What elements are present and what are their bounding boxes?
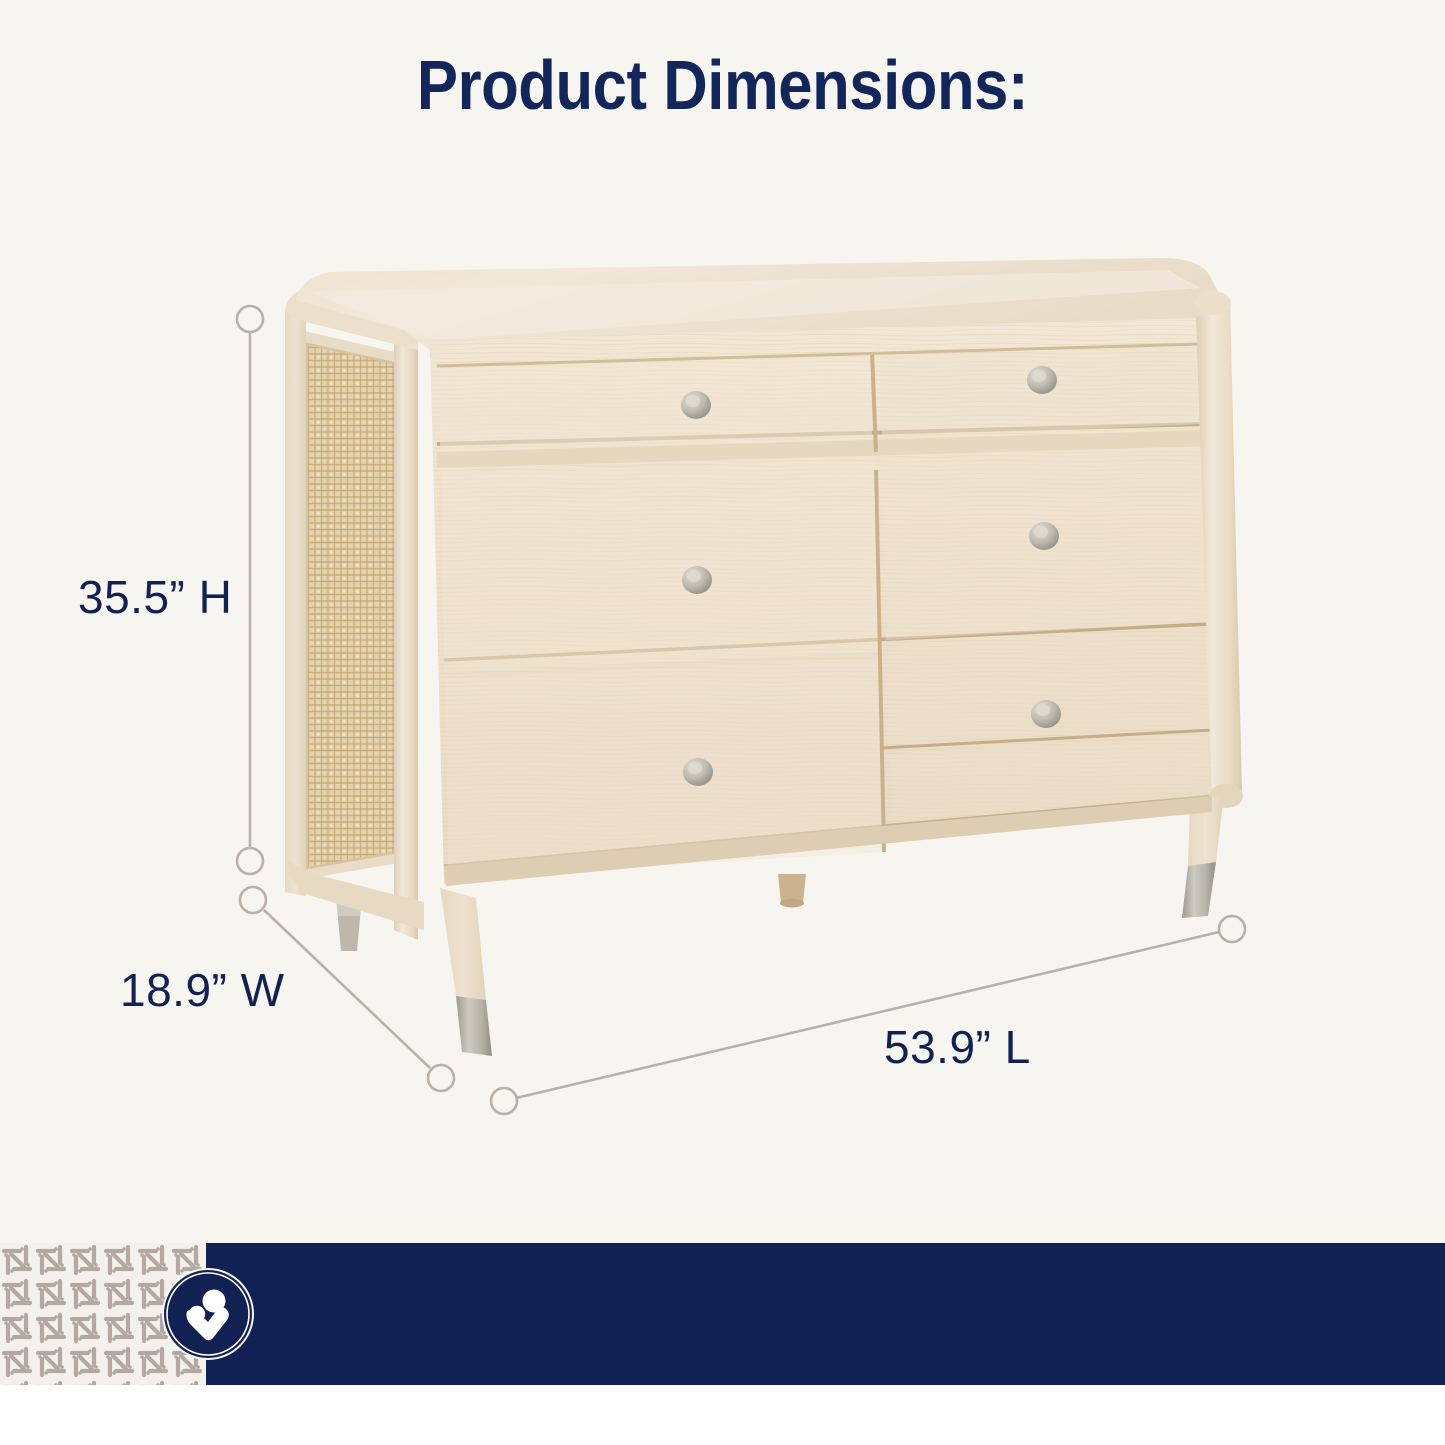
- footer-white-strip: [0, 1385, 1445, 1445]
- width-dimension-label: 18.9” W: [120, 963, 285, 1017]
- infographic-canvas: Product Dimensions:: [0, 0, 1445, 1243]
- leg-cap-left: [456, 996, 492, 1056]
- knob-top-left[interactable]: [681, 391, 711, 419]
- knob-bottom-left[interactable]: [683, 758, 713, 786]
- drawer-faces: [440, 346, 1212, 878]
- footer-navy-bar: [206, 1243, 1445, 1385]
- product-dimensions-infographic: Product Dimensions:: [0, 0, 1445, 1445]
- height-dimension-label: 35.5” H: [78, 570, 232, 624]
- knob-bottom-right[interactable]: [1031, 700, 1061, 728]
- leg-cap-right: [1182, 862, 1216, 918]
- footer-band: [0, 1243, 1445, 1385]
- cane-side-panel: [300, 330, 404, 880]
- knob-top-right[interactable]: [1027, 366, 1057, 394]
- knob-mid-right[interactable]: [1029, 522, 1059, 550]
- parent-and-baby-logo: [162, 1268, 254, 1360]
- parent-and-baby-icon: [164, 1270, 252, 1358]
- knob-mid-left[interactable]: [682, 566, 712, 594]
- length-dimension-label: 53.9” L: [884, 1020, 1031, 1074]
